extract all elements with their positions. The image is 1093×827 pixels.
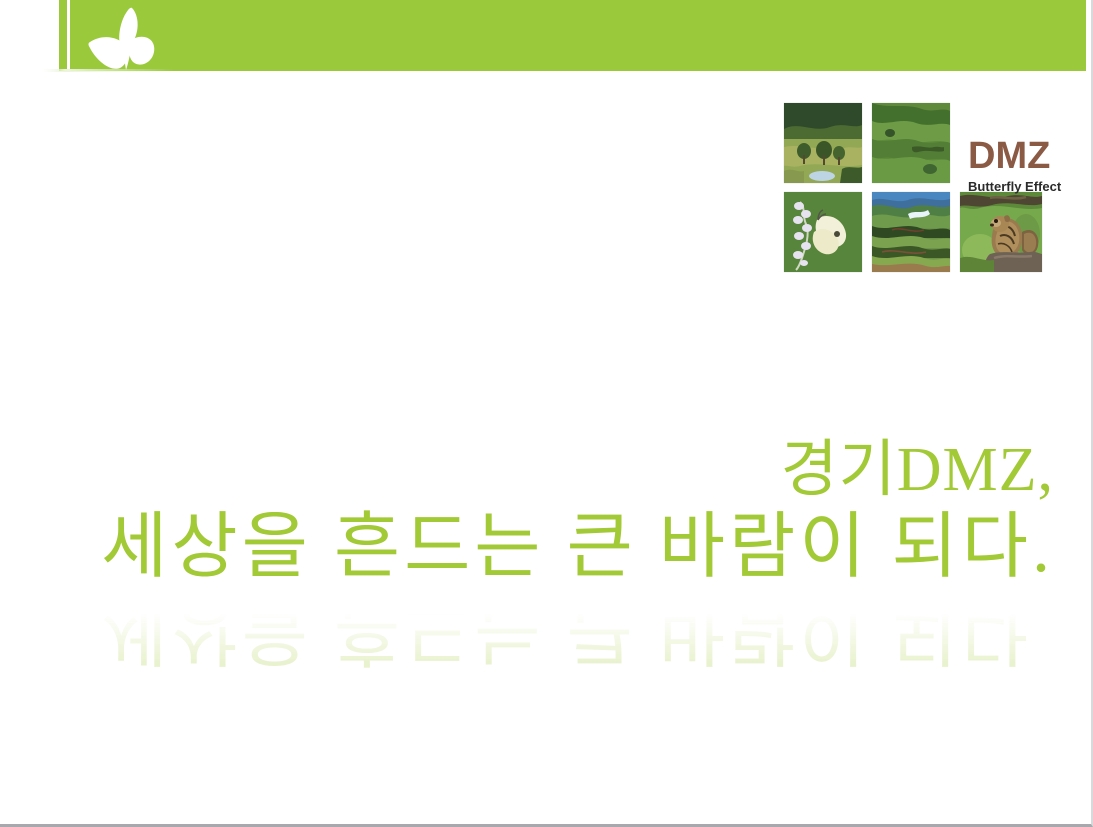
- photo-chipmunk: [960, 192, 1042, 272]
- photo-green-hillside: [872, 103, 950, 183]
- photo-meadow-trees: [784, 103, 862, 183]
- dmz-logo-text: DMZ Butterfly Effect: [968, 137, 1068, 195]
- header-accent-stripe: [59, 0, 67, 71]
- dmz-logo-block: DMZ Butterfly Effect: [782, 101, 1054, 273]
- dmz-tagline-label: Butterfly Effect: [968, 179, 1068, 195]
- presentation-slide: DMZ Butterfly Effect 경기DMZ, 세상을 흔드는 큰 바람…: [0, 0, 1093, 827]
- slide-title-reflection-holder: 세상을 흔드는 큰 바람이 되다.: [0, 590, 1072, 672]
- slide-title-line-2: 세상을 흔드는 큰 바람이 되다.: [0, 506, 1054, 588]
- butterfly-icon: [88, 6, 166, 72]
- slide-title-line-1: 경기DMZ,: [0, 434, 1054, 506]
- photo-white-butterfly: [784, 192, 862, 272]
- slide-title-reflection: 세상을 흔드는 큰 바람이 되다.: [0, 590, 1072, 672]
- dmz-brand-label: DMZ: [968, 137, 1068, 175]
- photo-river-valley: [872, 192, 950, 272]
- slide-title-block: 경기DMZ, 세상을 흔드는 큰 바람이 되다. 세상을 흔드는 큰 바람이 되…: [0, 434, 1072, 674]
- header-green-bar: [70, 0, 1086, 71]
- slide-title: 경기DMZ, 세상을 흔드는 큰 바람이 되다.: [0, 434, 1072, 588]
- logo-photo-grid: [782, 101, 952, 273]
